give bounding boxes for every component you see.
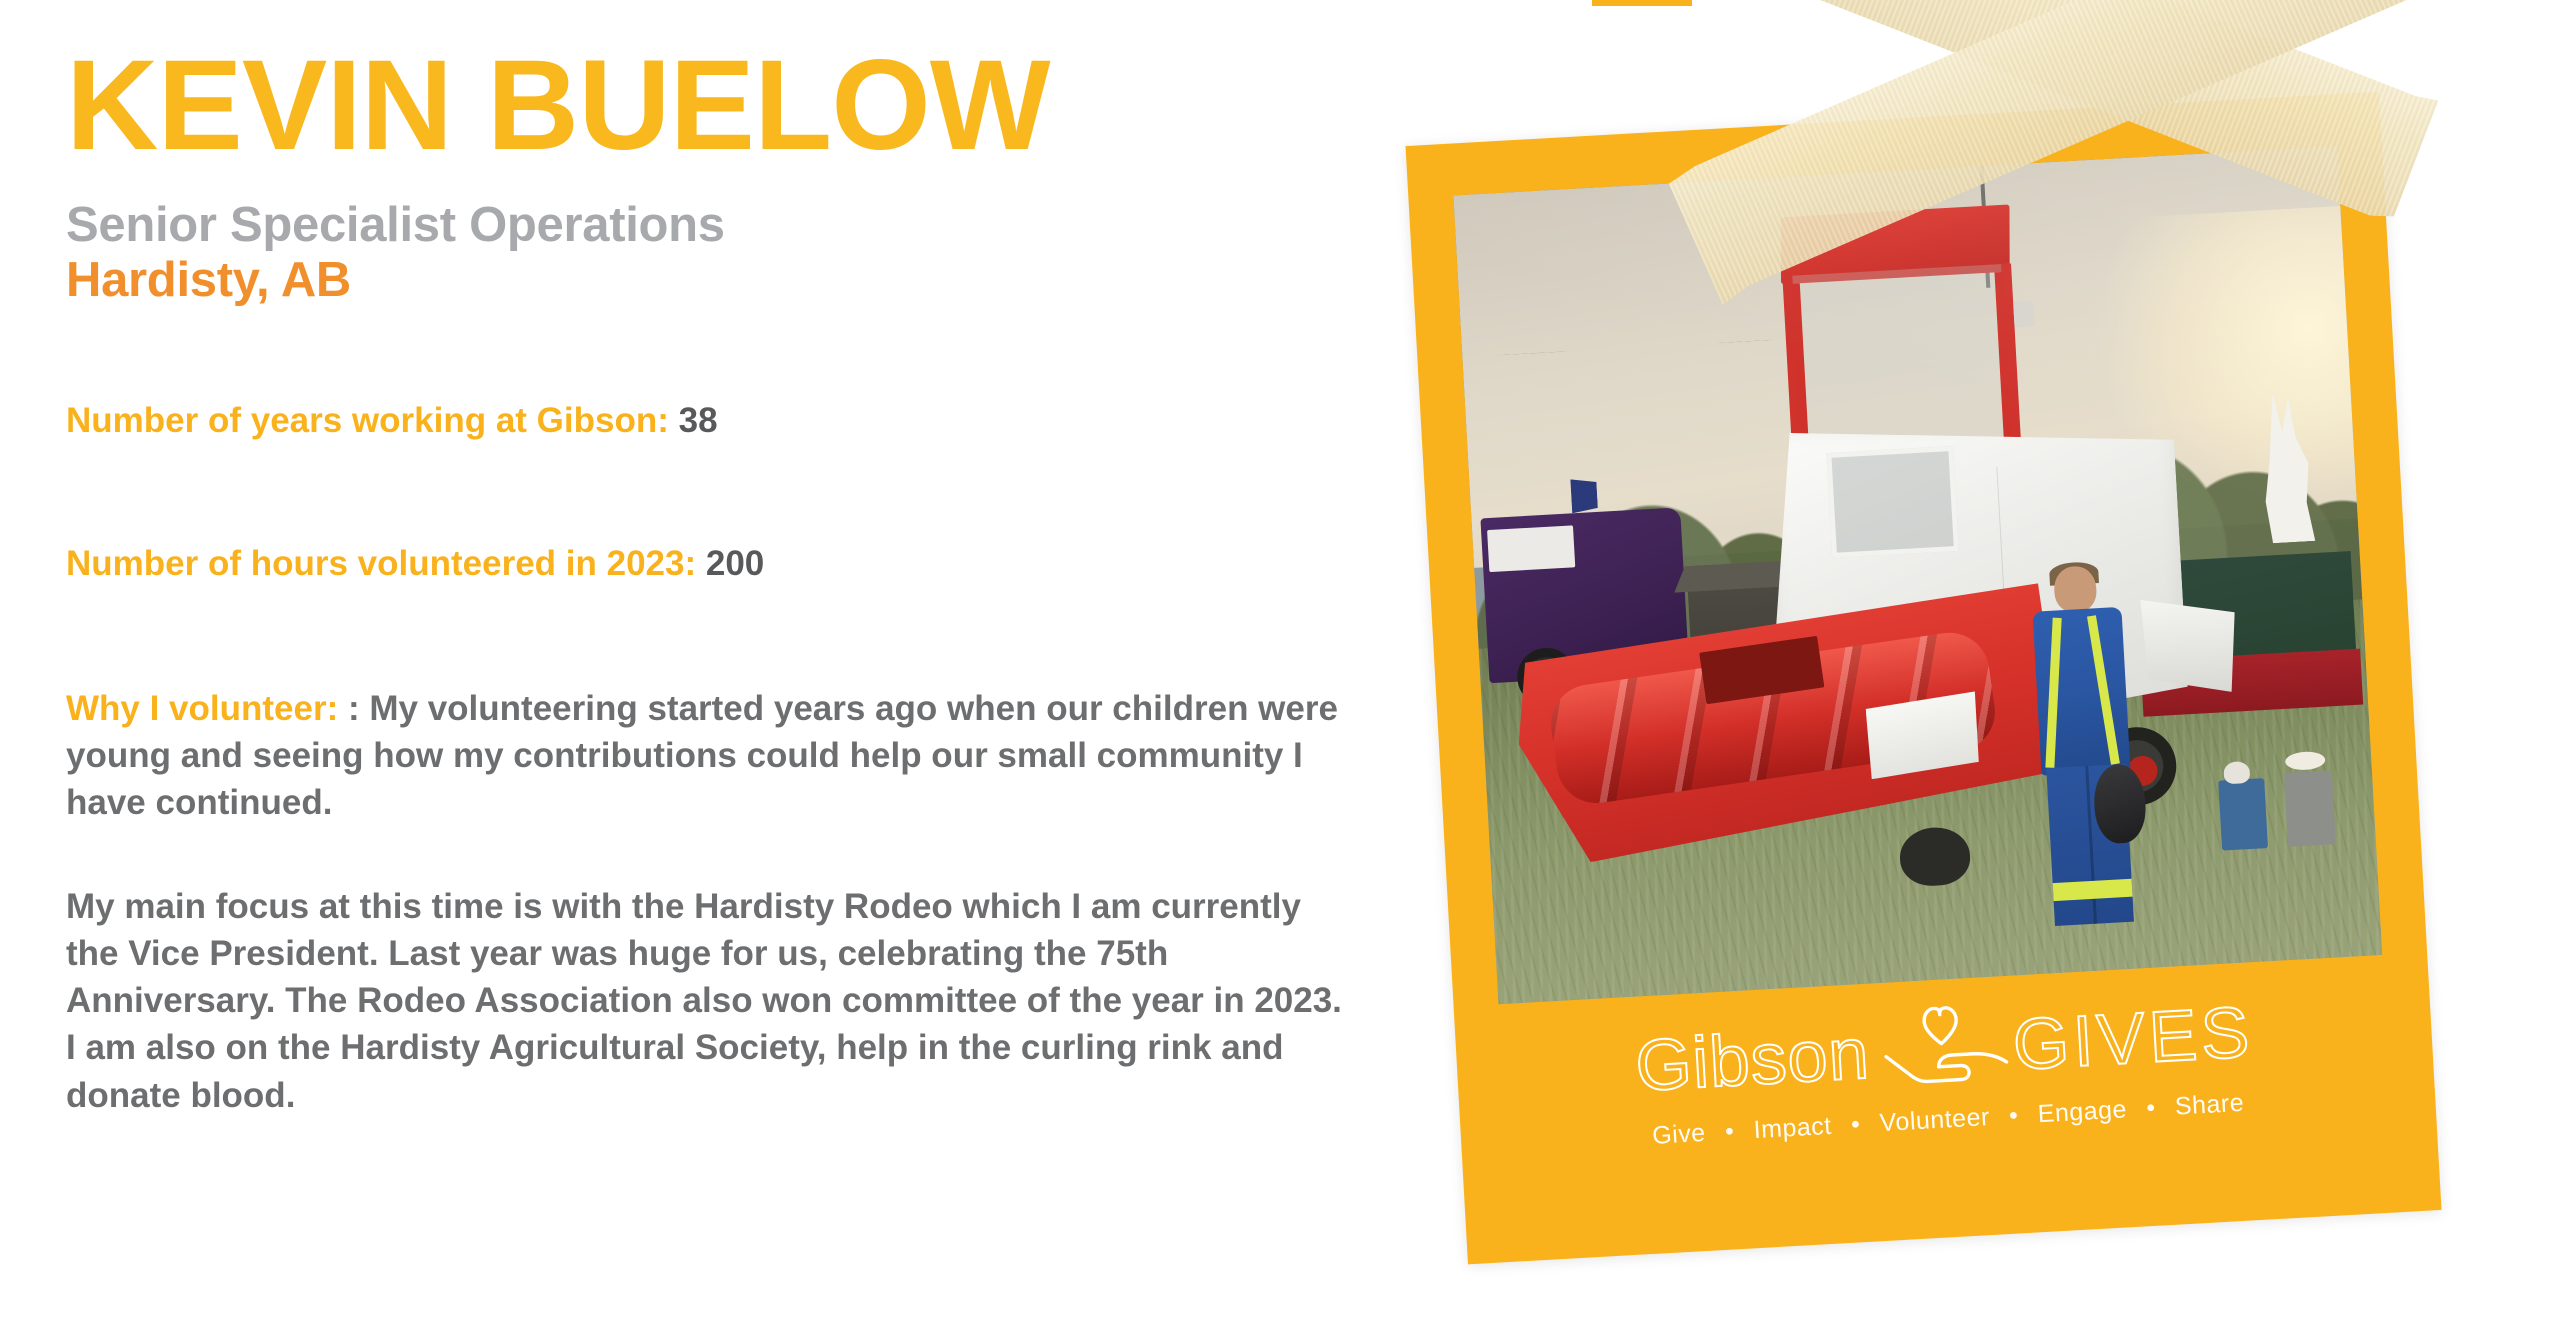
rear-wheel xyxy=(1898,826,1971,888)
tagline-engage: Engage xyxy=(2037,1095,2128,1128)
polaroid-frame: Gibson GIVES Give • Impact • Volunteer • xyxy=(1406,92,2442,1265)
volunteer-photo xyxy=(1453,146,2382,1004)
profile-content-column: KEVIN BUELOW Senior Specialist Operation… xyxy=(66,0,1426,1337)
bullet-separator-icon: • xyxy=(1996,1101,2031,1131)
person-location: Hardisty, AB xyxy=(66,253,1426,308)
head xyxy=(2053,565,2097,614)
stat-years-value: 38 xyxy=(679,401,718,440)
stat-hours-volunteered: Number of hours volunteered in 2023: 200 xyxy=(66,541,1426,587)
volunteer-spotlight-slide: KEVIN BUELOW Senior Specialist Operation… xyxy=(0,0,2560,1337)
tagline-impact: Impact xyxy=(1753,1112,1832,1144)
bullet-separator-icon: • xyxy=(2134,1093,2169,1123)
volunteer-story-text: My main focus at this time is with the H… xyxy=(66,883,1356,1119)
gibson-gives-logo: Gibson GIVES Give • Impact • Volunteer • xyxy=(1455,974,2436,1161)
heart-in-hand-icon xyxy=(1873,998,2010,1101)
tagline-give: Give xyxy=(1652,1119,1707,1150)
stat-hours-label: Number of hours volunteered in 2023: xyxy=(66,544,696,583)
logo-word-gives: GIVES xyxy=(2011,996,2255,1081)
stat-years-working: Number of years working at Gibson: 38 xyxy=(66,398,1426,444)
beacon-light xyxy=(2013,300,2034,327)
combine-harvester xyxy=(1473,179,2363,970)
top-accent-sliver xyxy=(1592,0,1692,6)
why-i-volunteer-block: Why I volunteer: : My volunteering start… xyxy=(66,685,1356,827)
tagline-share: Share xyxy=(2174,1089,2245,1121)
stat-hours-value: 200 xyxy=(706,544,764,583)
tagline-volunteer: Volunteer xyxy=(1879,1103,1991,1137)
photo-scene xyxy=(1453,146,2382,1004)
combine-window xyxy=(1826,446,1959,557)
person-role: Senior Specialist Operations xyxy=(66,198,1426,253)
stat-years-label: Number of years working at Gibson: xyxy=(66,401,669,440)
bullet-separator-icon: • xyxy=(1712,1117,1747,1147)
bullet-separator-icon: • xyxy=(1838,1110,1873,1140)
why-i-volunteer-label: Why I volunteer: xyxy=(66,689,338,728)
person-in-photo xyxy=(2020,563,2150,926)
logo-word-gibson: Gibson xyxy=(1634,1018,1872,1103)
page-title: KEVIN BUELOW xyxy=(66,42,1426,170)
